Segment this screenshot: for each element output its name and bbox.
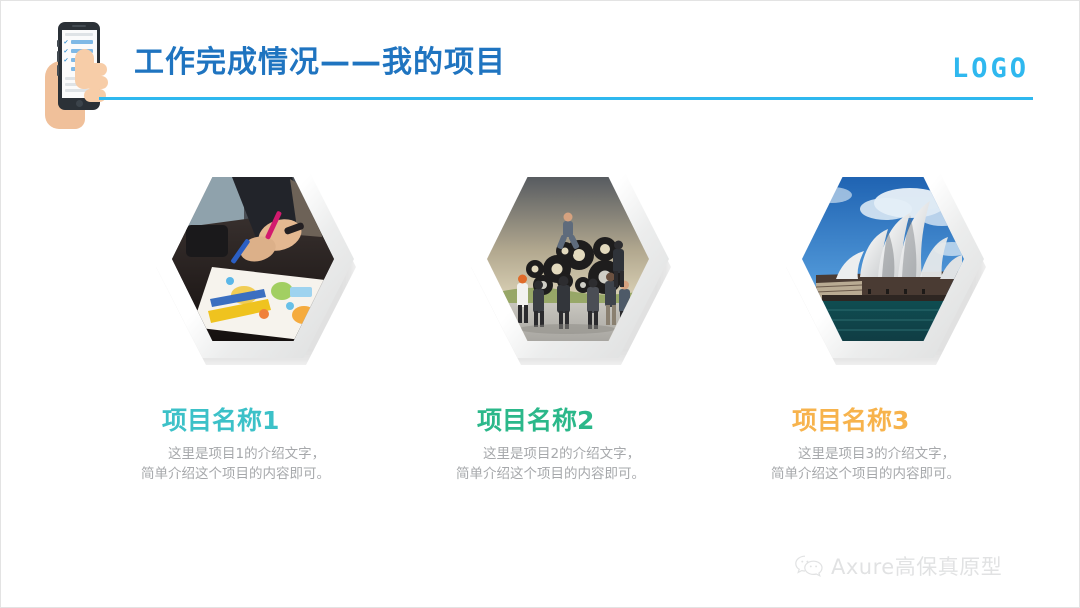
project-description: 这里是项目1的介绍文字，简单介绍这个项目的内容即可。 [141, 444, 333, 484]
screen-header-bar [65, 33, 93, 36]
header-divider [99, 97, 1033, 100]
project-card-row: 项目名称1 这里是项目1的介绍文字，简单介绍这个项目的内容即可。 [1, 151, 1080, 531]
hexagon-photo-frame[interactable] [778, 157, 994, 370]
project-card[interactable]: 项目名称3 这里是项目3的介绍文字，简单介绍这个项目的内容即可。 [749, 151, 1064, 531]
project-description: 这里是项目2的介绍文字，简单介绍这个项目的内容即可。 [456, 444, 648, 484]
hexagon-photo-frame[interactable] [463, 157, 679, 370]
watermark: Axure高保真原型 [794, 549, 1002, 583]
slide-header: ✔ ✔ ✔ 工作完成情况——我的项目 LOGO [1, 1, 1080, 141]
screen-task-bar [71, 40, 93, 44]
logo: LOGO [952, 53, 1029, 84]
phone-side-button-icon [57, 65, 59, 76]
watermark-text: Axure高保真原型 [831, 551, 1002, 581]
project-title: 项目名称3 [792, 401, 909, 437]
slide-canvas: ✔ ✔ ✔ 工作完成情况——我的项目 LOGO [0, 0, 1080, 608]
check-icon: ✔ [64, 58, 69, 63]
hand-finger-shape [84, 63, 107, 76]
hexagon-photo-frame[interactable] [148, 157, 364, 370]
project-title: 项目名称2 [477, 401, 594, 437]
page-title: 工作完成情况——我的项目 [134, 37, 506, 81]
phone-speaker-shape [72, 25, 86, 27]
phone-home-button-icon [76, 100, 83, 107]
hand-finger-shape [84, 89, 106, 102]
project-card[interactable]: 项目名称2 这里是项目2的介绍文字，简单介绍这个项目的内容即可。 [434, 151, 749, 531]
project-card[interactable]: 项目名称1 这里是项目1的介绍文字，简单介绍这个项目的内容即可。 [119, 151, 434, 531]
hand-holding-phone-checklist-icon: ✔ ✔ ✔ [39, 19, 119, 129]
hand-finger-shape [84, 76, 108, 89]
phone-side-button-icon [57, 40, 59, 47]
wechat-icon [794, 553, 824, 579]
phone-side-button-icon [57, 51, 59, 62]
project-description: 这里是项目3的介绍文字，简单介绍这个项目的内容即可。 [771, 444, 963, 484]
project-title: 项目名称1 [162, 401, 279, 437]
check-icon: ✔ [64, 49, 69, 54]
check-icon: ✔ [64, 40, 69, 45]
